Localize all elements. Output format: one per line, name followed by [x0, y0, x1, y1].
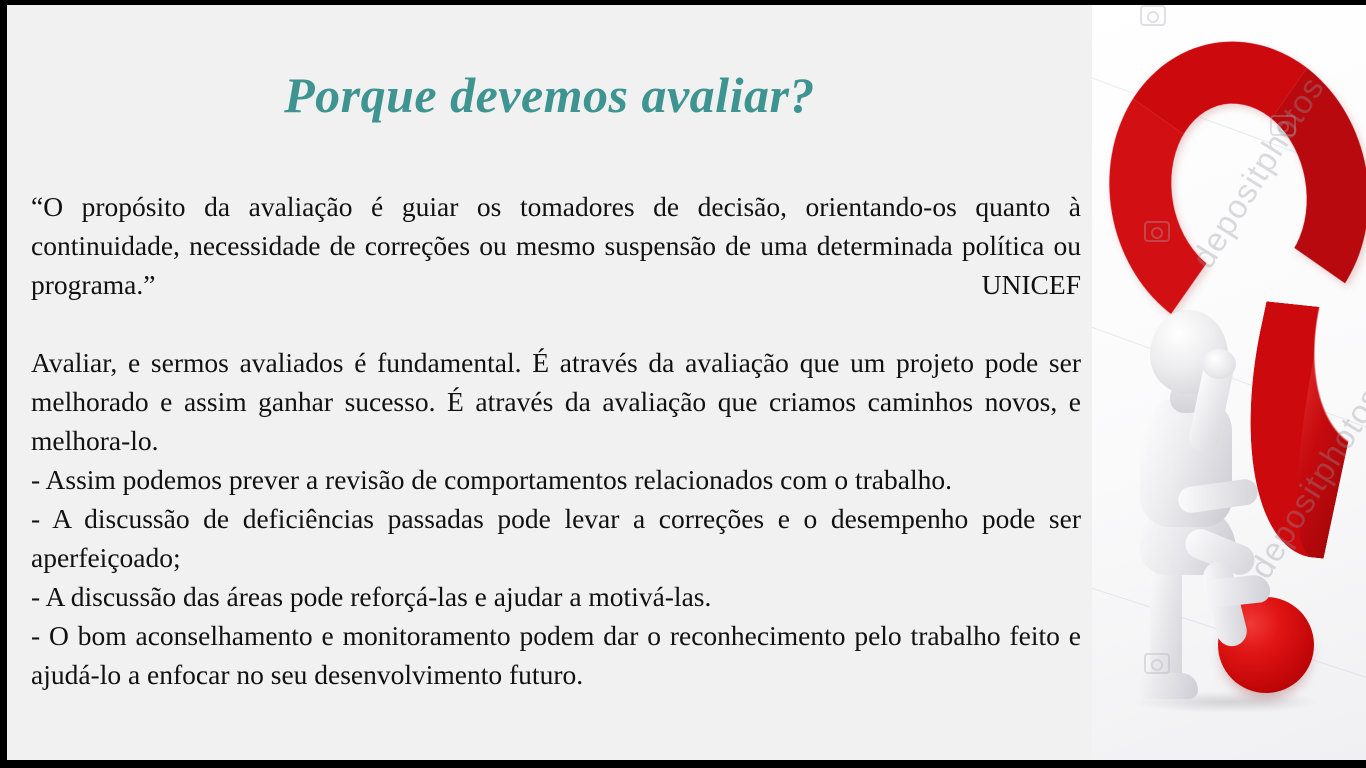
intro-paragraph: Avaliar, e sermos avaliados é fundamenta… [31, 343, 1081, 460]
slide-frame: Porque devemos avaliar? “O propósito da … [0, 0, 1366, 768]
body-content: “O propósito da avaliação é guiar os tom… [31, 187, 1081, 694]
quote-paragraph: “O propósito da avaliação é guiar os tom… [31, 187, 1081, 304]
figure-back-foot [1136, 673, 1198, 699]
question-mark-illustration: depositphotos depositphotos [1092, 5, 1366, 760]
page-title: Porque devemos avaliar? [284, 69, 815, 122]
bullet-line-2: - A discussão de deficiências passadas p… [31, 499, 1081, 577]
bullet-line-3: - A discussão das áreas pode reforçá-las… [31, 577, 1081, 616]
slide-canvas: Porque devemos avaliar? “O propósito da … [7, 5, 1366, 760]
figure-hand [1202, 349, 1236, 379]
title-area: Porque devemos avaliar? [7, 55, 1092, 135]
figure-back-leg [1150, 561, 1182, 691]
bullet-line-1: - Assim podemos prever a revisão de comp… [31, 460, 1081, 499]
bullet-line-4: - O bom aconselhamento e monitoramento p… [31, 616, 1081, 694]
